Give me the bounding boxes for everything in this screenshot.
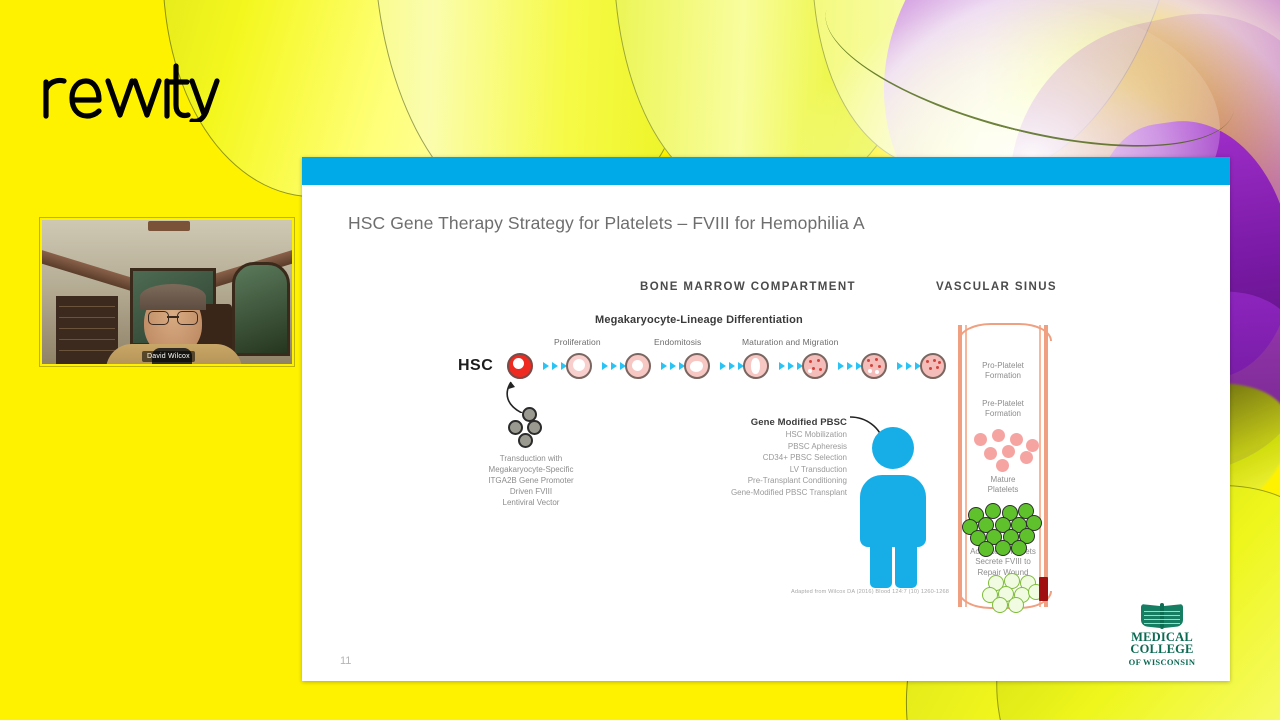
cell-stage-5 xyxy=(743,353,769,379)
slide-accent-bar xyxy=(302,157,1230,185)
mcw-line-2: COLLEGE xyxy=(1112,643,1212,656)
slide-page-number: 11 xyxy=(340,655,351,667)
pre-platelet xyxy=(1020,451,1033,464)
revvity-wordmark-icon xyxy=(40,60,220,122)
video-background-room xyxy=(40,218,294,366)
mature-platelet xyxy=(995,540,1011,556)
mcw-line-3: OF WISCONSIN xyxy=(1112,657,1212,667)
mcw-logo: MEDICAL COLLEGE OF WISCONSIN xyxy=(1112,603,1212,668)
label-pro-platelet-formation: Pro-Platelet Formation xyxy=(957,361,1049,382)
transduction-line-5: Lentiviral Vector xyxy=(446,497,616,508)
vascular-sinus-vessel: Pro-Platelet Formation Pre-Platelet Form… xyxy=(952,325,1054,607)
cell-pro-platelet xyxy=(920,353,946,379)
participant-hair xyxy=(140,284,206,310)
heading-bone-marrow-compartment: BONE MARROW COMPARTMENT xyxy=(640,281,856,293)
pbsc-cell-cluster xyxy=(508,407,554,453)
patient-head xyxy=(872,427,914,469)
label-pro-platelet-line1: Pro-Platelet xyxy=(957,361,1049,371)
pre-platelet xyxy=(992,429,1005,442)
stage-label-endomitosis: Endomitosis xyxy=(654,337,701,347)
mature-platelet xyxy=(1011,540,1027,556)
heading-vascular-sinus: VASCULAR SINUS xyxy=(936,281,1057,293)
diagram-citation: Adapted from Wilcox DA (2016) Blood 124:… xyxy=(720,589,1020,595)
patient-figure-icon xyxy=(858,427,928,587)
pre-platelet xyxy=(1010,433,1023,446)
transduction-line-3: ITGA2B Gene Promoter xyxy=(446,475,616,486)
pre-platelet xyxy=(1002,445,1015,458)
pbsc-step-list: HSC Mobilization PBSC Apheresis CD34+ PB… xyxy=(652,429,847,499)
transduction-caption: Transduction with Megakaryocyte-Specific… xyxy=(446,453,616,508)
stage-label-maturation-migration: Maturation and Migration xyxy=(742,337,838,347)
patient-leg-left xyxy=(870,543,892,588)
cell-stage-2 xyxy=(566,353,592,379)
revvity-logo: revvity xyxy=(40,60,220,127)
transduction-line-4: Driven FVIII xyxy=(446,486,616,497)
slide-title: HSC Gene Therapy Strategy for Platelets … xyxy=(348,213,865,234)
pre-platelet xyxy=(974,433,987,446)
transduction-line-2: Megakaryocyte-Specific xyxy=(446,464,616,475)
stage-label-proliferation: Proliferation xyxy=(554,337,601,347)
label-pro-platelet-line2: Formation xyxy=(957,371,1049,381)
activated-platelet xyxy=(1008,597,1024,613)
transduction-line-1: Transduction with xyxy=(446,453,616,464)
pbsc-title: Gene Modified PBSC xyxy=(652,417,847,428)
pre-platelet xyxy=(1026,439,1039,452)
pbsc-step-2: PBSC Apheresis xyxy=(652,441,847,453)
label-pre-platelet-line1: Pre-Platelet xyxy=(957,399,1049,409)
label-mature-line1: Mature xyxy=(957,475,1049,485)
cell-stage-3 xyxy=(625,353,651,379)
label-activated-line2: Secrete FVIII to xyxy=(957,557,1049,567)
vessel-cap-top xyxy=(958,323,1052,341)
pbsc-step-5: Pre-Transplant Conditioning xyxy=(652,475,847,487)
cell-stage-4 xyxy=(684,353,710,379)
gene-modified-pbsc-block: Gene Modified PBSC HSC Mobilization PBSC… xyxy=(652,417,847,499)
label-pre-platelet-line2: Formation xyxy=(957,409,1049,419)
label-mature-line2: Platelets xyxy=(957,485,1049,495)
bookshelf xyxy=(56,296,118,364)
label-activated-line3: Repair Wound xyxy=(957,568,1049,578)
label-pre-platelet-formation: Pre-Platelet Formation xyxy=(957,399,1049,420)
cell-stage-6 xyxy=(802,353,828,379)
hsc-gene-therapy-diagram: BONE MARROW COMPARTMENT VASCULAR SINUS M… xyxy=(452,267,1212,647)
pbsc-step-3: CD34+ PBSC Selection xyxy=(652,452,847,464)
video-participant-tile[interactable]: David Wilcox xyxy=(40,218,294,366)
pbsc-step-1: HSC Mobilization xyxy=(652,429,847,441)
presentation-slide[interactable]: HSC Gene Therapy Strategy for Platelets … xyxy=(302,157,1230,681)
window-right xyxy=(232,262,290,356)
open-book-icon xyxy=(1141,603,1183,629)
patient-leg-right xyxy=(895,543,917,588)
hsc-label: HSC xyxy=(458,357,493,375)
pre-platelet xyxy=(996,459,1009,472)
mature-platelet xyxy=(978,541,994,557)
label-mature-platelets: Mature Platelets xyxy=(957,475,1049,496)
lineage-title: Megakaryocyte-Lineage Differentiation xyxy=(595,314,803,326)
glasses-icon xyxy=(148,311,198,323)
ceiling-ridge xyxy=(148,221,190,231)
pbsc-step-6: Gene-Modified PBSC Transplant xyxy=(652,487,847,499)
participant-name-label: David Wilcox xyxy=(142,351,195,362)
cell-stage-7 xyxy=(861,353,887,379)
patient-torso xyxy=(860,475,926,547)
pbsc-step-4: LV Transduction xyxy=(652,464,847,476)
wound-marker xyxy=(1039,577,1048,601)
pre-platelet xyxy=(984,447,997,460)
activated-platelet xyxy=(992,597,1008,613)
cell-hsc xyxy=(507,353,533,379)
